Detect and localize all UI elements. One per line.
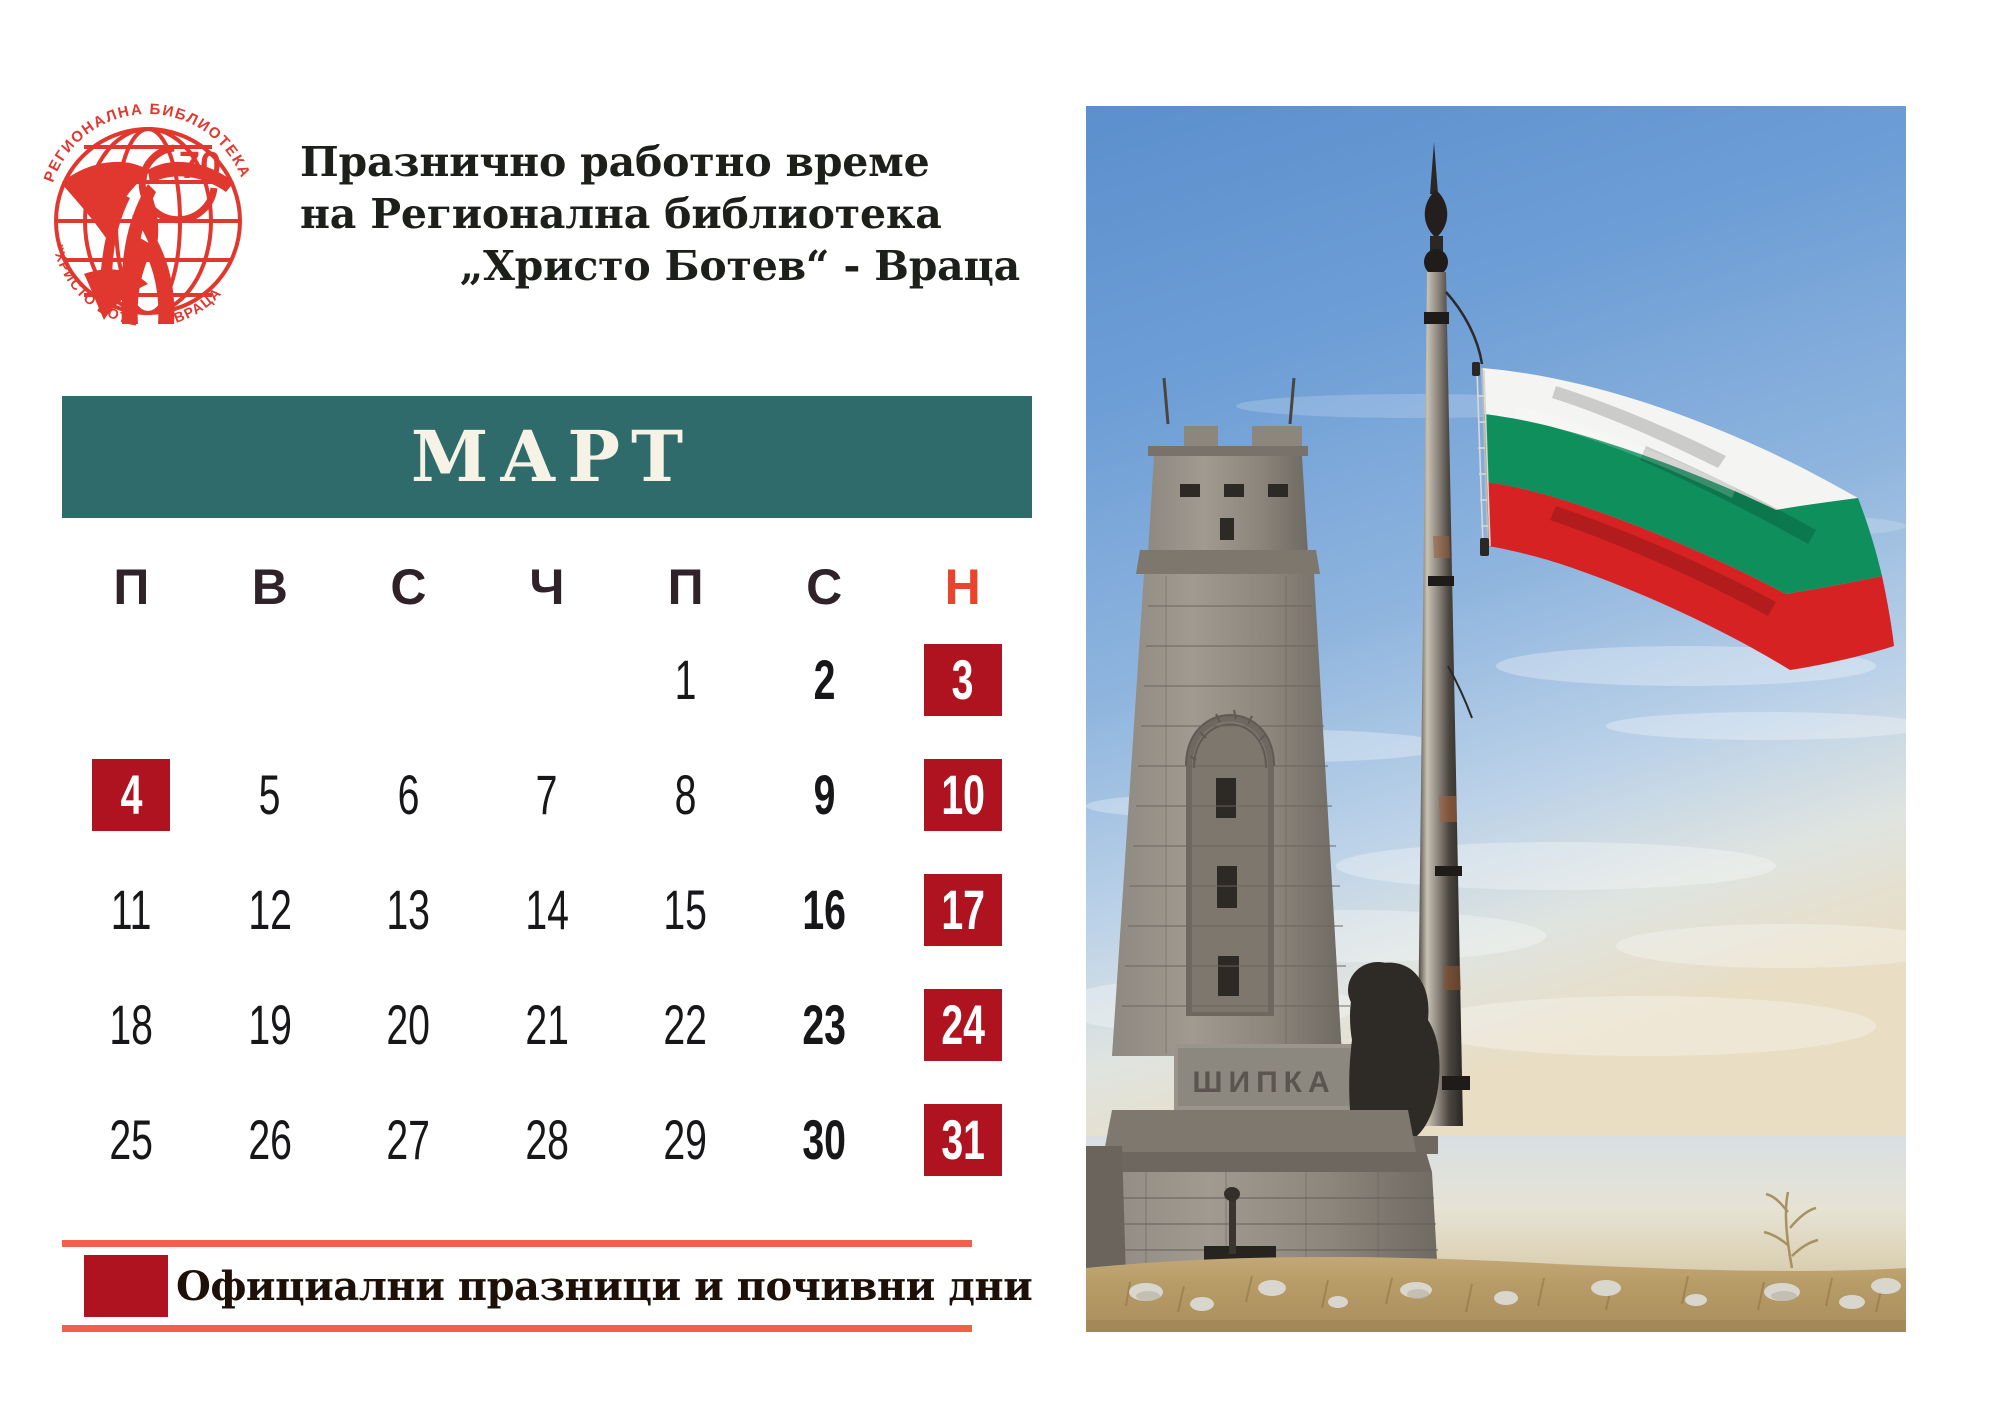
month-banner: МАРТ [62, 396, 1032, 518]
calendar-day-cell: 29 [616, 1082, 755, 1197]
calendar-week-row: 18 19 20 21 22 23 24 [62, 967, 1032, 1082]
calendar-day-cell: 6 [339, 737, 478, 852]
calendar-day-cell: 21 [478, 967, 617, 1082]
logo-anniversary-text: 70 [179, 145, 221, 187]
calendar-day-cell: 9 [755, 737, 894, 852]
calendar-week-row: 1 2 3 [62, 622, 1032, 737]
calendar-day-cell: 26 [201, 1082, 340, 1197]
title-line-2: на Регионална библиотека [300, 188, 1020, 240]
calendar-day-cell: 30 [755, 1082, 894, 1197]
weekday-header-fri: П [616, 552, 755, 622]
weekday-header-sun: Н [893, 552, 1032, 622]
calendar-day-cell: 14 [478, 852, 617, 967]
calendar-day-cell: 20 [339, 967, 478, 1082]
weekday-header-sat: С [755, 552, 894, 622]
calendar-day-cell-holiday: 10 [893, 737, 1032, 852]
calendar-day-cell: 7 [478, 737, 617, 852]
calendar-day-cell: 28 [478, 1082, 617, 1197]
calendar-day-cell: 27 [339, 1082, 478, 1197]
calendar-week-row: 11 12 13 14 15 16 17 [62, 852, 1032, 967]
legend-rule-top [62, 1240, 972, 1247]
calendar-day-cell [339, 622, 478, 737]
calendar-day-cell [62, 622, 201, 737]
calendar-day-cell [478, 622, 617, 737]
legend-color-swatch [84, 1255, 168, 1317]
weekday-header-thu: Ч [478, 552, 617, 622]
calendar-day-cell: 11 [62, 852, 201, 967]
calendar-day-cell: 2 [755, 622, 894, 737]
calendar-week-row: 25 26 27 28 29 30 31 [62, 1082, 1032, 1197]
legend-body: Официални празници и почивни дни [62, 1247, 972, 1325]
calendar-day-cell: 1 [616, 622, 755, 737]
calendar-day-cell-holiday: 31 [893, 1082, 1032, 1197]
calendar-day-cell-holiday: 3 [893, 622, 1032, 737]
calendar-day-cell: 19 [201, 967, 340, 1082]
legend-label: Официални празници и почивни дни [176, 1263, 1032, 1310]
calendar-day-cell: 8 [616, 737, 755, 852]
calendar-day-cell: 5 [201, 737, 340, 852]
title-line-1: Празнично работно време [300, 136, 1020, 188]
svg-text:ВРАЦА: ВРАЦА [172, 284, 225, 326]
weekday-header-wed: С [339, 552, 478, 622]
calendar-poster: 70 РЕГИОНАЛНА БИБЛИОТЕКА "ХРИСТО БОТЕВ" … [0, 0, 2000, 1409]
calendar-grid: П В С Ч П С Н 1 2 3 4 5 [62, 552, 1032, 1197]
calendar-day-cell: 13 [339, 852, 478, 967]
legend: Официални празници и почивни дни [62, 1240, 972, 1332]
calendar-day-cell: 12 [201, 852, 340, 967]
calendar-day-cell: 25 [62, 1082, 201, 1197]
calendar-day-cell-holiday: 24 [893, 967, 1032, 1082]
page-title: Празнично работно време на Регионална би… [300, 136, 1020, 292]
calendar-day-cell-holiday: 17 [893, 852, 1032, 967]
calendar-day-cell: 22 [616, 967, 755, 1082]
title-line-3: „Христо Ботев“ - Враца [300, 240, 1020, 292]
shipka-monument-photo: ШИПКА [1086, 106, 1906, 1332]
weekday-header-tue: В [201, 552, 340, 622]
calendar-day-cell-holiday: 4 [62, 737, 201, 852]
library-logo: 70 РЕГИОНАЛНА БИБЛИОТЕКА "ХРИСТО БОТЕВ" … [22, 88, 274, 340]
calendar-week-row: 4 5 6 7 8 9 10 [62, 737, 1032, 852]
left-panel: 70 РЕГИОНАЛНА БИБЛИОТЕКА "ХРИСТО БОТЕВ" … [0, 0, 1060, 1409]
monument-inscription: ШИПКА [1192, 1066, 1335, 1099]
month-name: МАРТ [400, 422, 694, 492]
weekday-header-mon: П [62, 552, 201, 622]
logo-lower-right-text: ВРАЦА [172, 284, 225, 326]
calendar-day-cell: 23 [755, 967, 894, 1082]
calendar-day-cell: 15 [616, 852, 755, 967]
weekday-header-row: П В С Ч П С Н [62, 552, 1032, 622]
calendar-day-cell [201, 622, 340, 737]
legend-rule-bottom [62, 1325, 972, 1332]
calendar-day-cell: 16 [755, 852, 894, 967]
calendar-day-cell: 18 [62, 967, 201, 1082]
